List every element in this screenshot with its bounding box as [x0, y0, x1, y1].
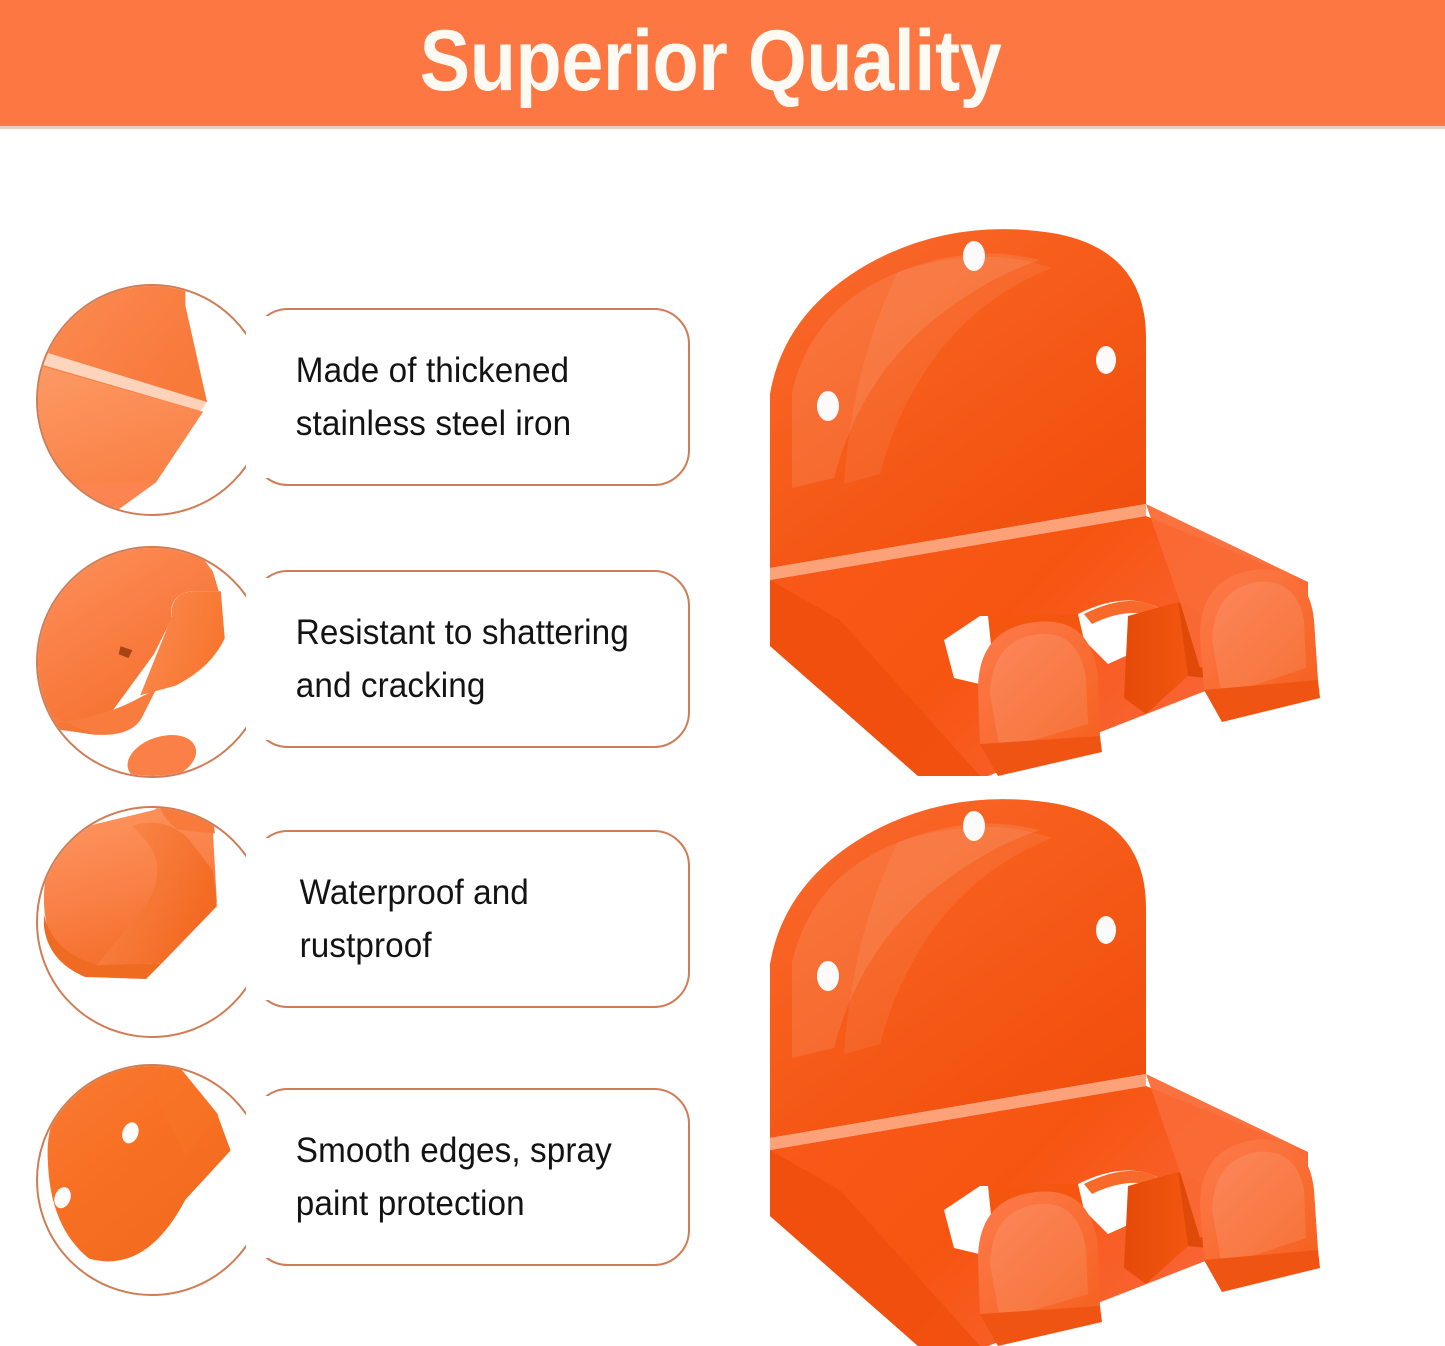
feature-bubble: Resistant to shattering and cracking	[252, 570, 690, 748]
feature-label: Resistant to shattering and cracking	[254, 606, 666, 712]
bubble-left-mask	[246, 838, 272, 1000]
product-image-bracket-top	[748, 216, 1368, 776]
detail-photo-hook-tab-icon	[36, 546, 268, 778]
feature-bubble: Made of thickened stainless steel iron	[252, 308, 690, 486]
bubble-left-mask	[246, 316, 272, 478]
header-banner: Superior Quality	[0, 0, 1445, 126]
page-title: Superior Quality	[420, 18, 1002, 104]
detail-photo-dome-tab-icon	[36, 806, 268, 1038]
bubble-left-mask	[246, 578, 272, 740]
feature-label: Smooth edges, spray paint protection	[254, 1124, 666, 1230]
feature-item-thickened-steel: Made of thickened stainless steel iron	[0, 276, 730, 538]
detail-photo-folded-metal-edge-icon	[36, 284, 268, 516]
feature-item-smooth-edges: Smooth edges, spray paint protection	[0, 1056, 730, 1318]
detail-photo-backplate-screw-holes-icon	[36, 1064, 268, 1296]
product-image-bracket-bottom	[748, 786, 1368, 1346]
bubble-left-mask	[246, 1096, 272, 1258]
feature-list: Made of thickened stainless steel iron	[0, 126, 730, 1335]
feature-bubble: Smooth edges, spray paint protection	[252, 1088, 690, 1266]
feature-item-waterproof-rustproof: Waterproof and rustproof	[0, 798, 730, 1060]
feature-label: Waterproof and rustproof	[254, 866, 666, 972]
feature-bubble: Waterproof and rustproof	[252, 830, 690, 1008]
feature-label: Made of thickened stainless steel iron	[254, 344, 666, 450]
feature-item-shatter-resistant: Resistant to shattering and cracking	[0, 538, 730, 800]
